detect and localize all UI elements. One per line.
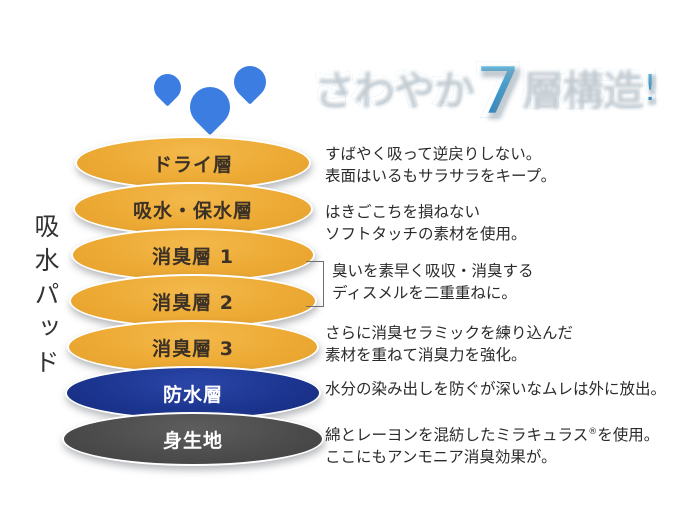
headline-number: 7 xyxy=(474,56,523,126)
description-line: 綿とレーヨンを混紡したミラキュラス®を使用。 xyxy=(325,424,659,446)
description-dry-layer: すばやく吸って逆戻りしない。 表面はいるもサラサラをキープ。 xyxy=(325,143,556,187)
description-line: すばやく吸って逆戻りしない。 xyxy=(325,143,556,165)
description-line: ここにもアンモニア消臭効果が。 xyxy=(325,446,659,468)
layer-label: 消臭層 3 xyxy=(152,334,234,361)
description-line: はきごこちを損ねない xyxy=(325,201,527,223)
layer-base-fabric: 身生地 xyxy=(62,412,324,466)
description-line: 表面はいるもサラサラをキープ。 xyxy=(325,165,556,187)
layer-stack: ドライ層 吸水・保水層 消臭層 1 消臭層 2 消臭層 3 防水層 身生地 xyxy=(62,136,324,482)
layer-label: 吸水・保水層 xyxy=(133,196,253,223)
water-droplets xyxy=(146,58,278,146)
water-droplet-icon xyxy=(148,68,186,106)
water-droplet-icon xyxy=(227,59,272,104)
bracket-connector xyxy=(306,261,324,307)
description-absorb-layer: はきごこちを損ねない ソフトタッチの素材を使用。 xyxy=(325,201,527,245)
infographic-canvas: さわやか 7 層構造! 吸水パッド ドライ層 吸水・保水層 消臭層 1 消臭層 … xyxy=(0,0,688,523)
description-waterproof: 水分の染み出しを防ぐが深いなムレは外に放出。 xyxy=(325,378,666,400)
description-line: さらに消臭セラミックを練り込んだ xyxy=(325,322,573,344)
absorbent-pad-label: 吸水パッド xyxy=(18,148,58,448)
description-deodorant-3: さらに消臭セラミックを練り込んだ 素材を重ねて消臭力を強化。 xyxy=(325,322,573,366)
layer-label: 消臭層 1 xyxy=(152,242,234,269)
layer-label: 身生地 xyxy=(163,426,223,453)
water-droplet-icon xyxy=(182,79,239,136)
headline: さわやか 7 層構造! xyxy=(312,52,684,124)
headline-suffix: 層構造! xyxy=(521,68,659,109)
description-text: を使用。 xyxy=(597,426,659,444)
description-line: 水分の染み出しを防ぐが深いなムレは外に放出。 xyxy=(325,378,666,400)
registered-trademark-icon: ® xyxy=(588,427,597,437)
description-line: ディスメルを二重重ねに。 xyxy=(332,282,534,304)
headline-prefix: さわやか xyxy=(312,68,472,109)
layer-label: 防水層 xyxy=(163,380,223,407)
layer-label: 消臭層 2 xyxy=(152,288,234,315)
layer-label: ドライ層 xyxy=(153,150,233,177)
description-line: 臭いを素早く吸収・消臭する xyxy=(332,260,534,282)
description-base-fabric: 綿とレーヨンを混紡したミラキュラス®を使用。 ここにもアンモニア消臭効果が。 xyxy=(325,424,659,468)
description-line: ソフトタッチの素材を使用。 xyxy=(325,223,527,245)
description-text: 綿とレーヨンを混紡したミラキュラス xyxy=(325,426,588,444)
description-deodorant-12: 臭いを素早く吸収・消臭する ディスメルを二重重ねに。 xyxy=(332,260,534,304)
description-line: 素材を重ねて消臭力を強化。 xyxy=(325,344,573,366)
